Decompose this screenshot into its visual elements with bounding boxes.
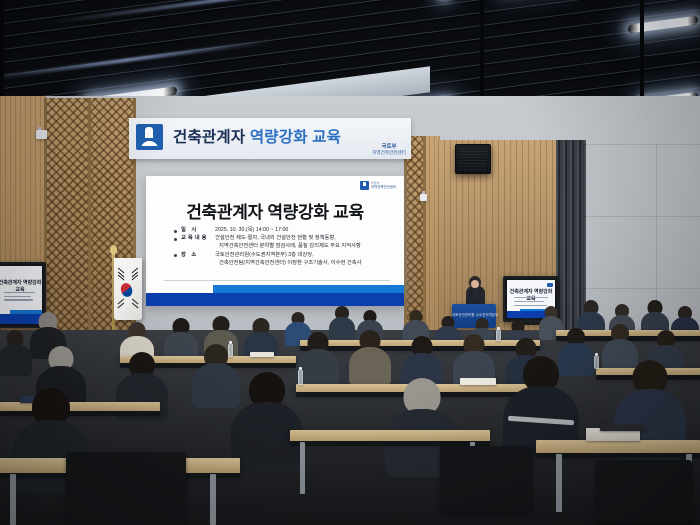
- bullet-value-line1: 건설안전 제도·절차, 국내외 건설안전 현황 및 정책동향,: [215, 235, 336, 241]
- audience-table: [536, 440, 700, 454]
- audience-person-foreground: [238, 372, 296, 462]
- slide-bullet-list: 일 시 2025. 10. 30.(목) 14:00 ~ 17:00 교육내용 …: [174, 228, 388, 269]
- slide-band-dark: [146, 293, 404, 306]
- wall-camera: [36, 130, 47, 139]
- audience-person: [166, 318, 196, 360]
- audience-person: [352, 330, 388, 382]
- slide-band-light: [213, 285, 404, 293]
- wall-speaker: [455, 144, 491, 174]
- slide-org-logo: 국토부 지역건축안전센터: [360, 181, 396, 190]
- audience-table: [290, 430, 490, 442]
- slide-logo-icon: [360, 181, 369, 190]
- slide-divider: [164, 280, 390, 281]
- bullet-value-line2: 건축안전팀(지역건축안전센터) 이장환 구조기술사, 이수현 건축사: [215, 261, 388, 266]
- chair-back: [440, 446, 532, 512]
- slide-bullet: 일 시 2025. 10. 30.(목) 14:00 ~ 17:00: [174, 228, 388, 233]
- slide-title: 건축관계자 역량강화 교육: [146, 198, 404, 223]
- banner-logo-icon: [136, 124, 163, 150]
- chair-back: [66, 452, 186, 525]
- audience-person: [0, 330, 30, 374]
- audience-person: [196, 344, 236, 404]
- slide-bullet: 교육내용 건설안전 제도·절차, 국내외 건설안전 현황 및 정책동향, 지역건…: [174, 236, 388, 249]
- water-bottle: [594, 356, 599, 369]
- bullet-value-line1: 국토안전관리원(수도권지역본부) 3층 대강당,: [215, 252, 314, 258]
- slide-logo-name: 지역건축안전센터: [371, 185, 396, 189]
- bullet-label: 일 시: [181, 228, 215, 233]
- presenter-face: [471, 280, 479, 288]
- table-leg: [300, 442, 305, 494]
- banner-org: 국토부 지역건축안전센터: [372, 144, 406, 156]
- bullet-value-line2: 지역건축안전센터 분야별 점검사례, 품질 감리제도 주요 지적사항: [215, 244, 388, 249]
- wall-camera: [420, 194, 427, 201]
- chair-back: [596, 460, 692, 524]
- taeguk-symbol: [119, 281, 134, 297]
- korean-national-flag: [114, 258, 142, 320]
- monitor-text-lines: [4, 292, 38, 304]
- bullet-value: 2025. 10. 30.(목) 14:00 ~ 17:00: [215, 228, 388, 233]
- bullet-value: 건설안전 제도·절차, 국내외 건설안전 현황 및 정책동향, 지역건축안전센터…: [215, 236, 388, 249]
- wall-lattice-panel: [44, 98, 94, 334]
- slide-bullet: 장 소 국토안전관리원(수도권지역본부) 3층 대강당, 건축안전팀(지역건축안…: [174, 253, 388, 266]
- notebook: [600, 424, 646, 431]
- slide-logo-text: 국토부 지역건축안전센터: [371, 182, 396, 190]
- paper-handout: [250, 352, 274, 357]
- water-bottle: [496, 330, 501, 341]
- banner-title: 건축관계자 역량강화 교육: [173, 125, 341, 147]
- banner-title-main: 건축관계자: [173, 129, 245, 146]
- audience-person: [300, 332, 336, 384]
- table-leg: [556, 454, 562, 512]
- bullet-value: 국토안전관리원(수도권지역본부) 3층 대강당, 건축안전팀(지역건축안전센터)…: [215, 253, 388, 266]
- bullet-label: 장 소: [181, 253, 215, 258]
- monitor-logo-icon: [547, 283, 553, 287]
- banner-org-name: 지역건축안전센터: [372, 150, 406, 155]
- projection-screen: 국토부 지역건축안전센터 건축관계자 역량강화 교육 일 시 2025. 10.…: [146, 176, 404, 306]
- water-bottle: [298, 370, 303, 385]
- bullet-dot-icon: [174, 254, 177, 257]
- banner-title-accent: 역량강화 교육: [250, 129, 341, 146]
- bullet-label: 교육내용: [181, 236, 215, 241]
- audience-person-foreground: [512, 356, 570, 452]
- bullet-value-line1: 2025. 10. 30.(목) 14:00 ~ 17:00: [215, 227, 288, 233]
- bullet-dot-icon: [174, 230, 177, 233]
- paper-handout: [460, 378, 496, 385]
- table-leg: [10, 474, 16, 525]
- seminar-room-photo: 건축관계자 역량강화 교육 국토부 지역건축안전센터 국토부 지역건축안전센터 …: [0, 0, 700, 525]
- event-banner: 건축관계자 역량강화 교육 국토부 지역건축안전센터: [129, 118, 411, 159]
- wall-lattice-panel: [404, 136, 426, 336]
- table-leg: [210, 474, 216, 525]
- bullet-dot-icon: [174, 238, 177, 241]
